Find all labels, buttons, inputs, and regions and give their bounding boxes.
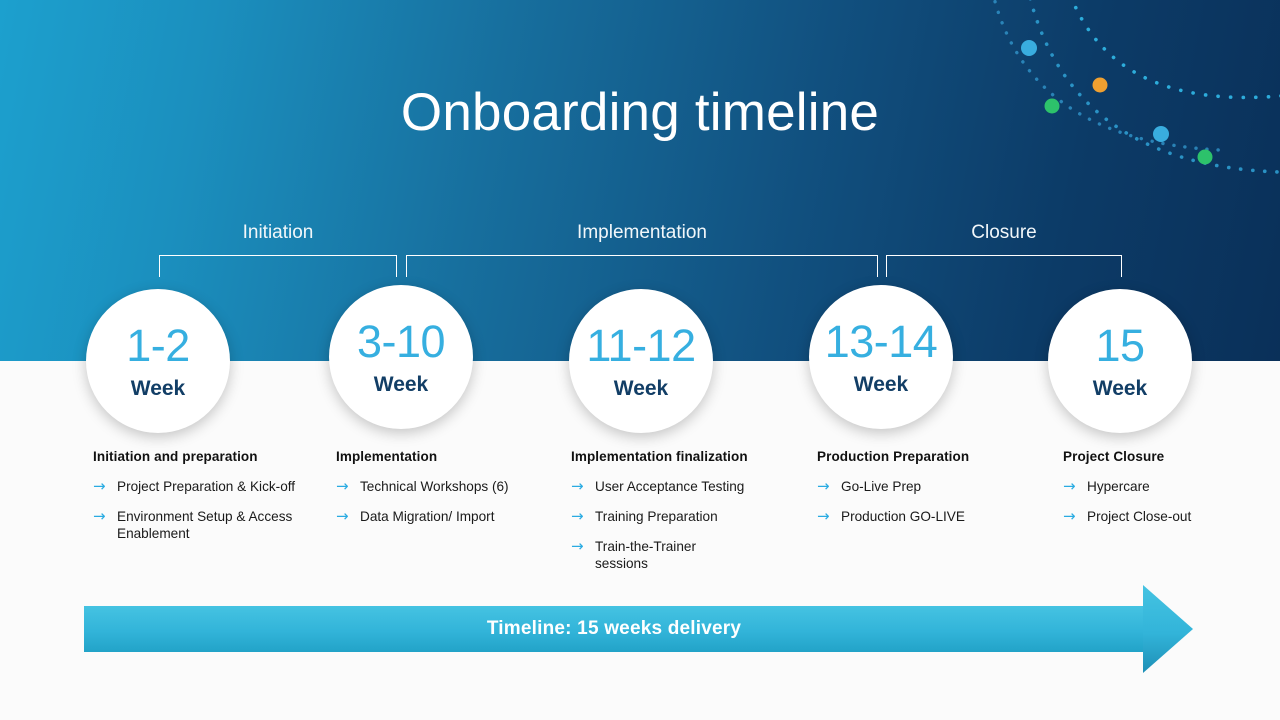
task-item[interactable]: → Data Migration/ Import — [336, 508, 561, 525]
milestone-number-4: 13-14 — [825, 319, 938, 364]
milestone-circle-5[interactable]: 15 Week — [1048, 289, 1192, 433]
milestone-circle-1[interactable]: 1-2 Week — [86, 289, 230, 433]
task-text: Train-the-Trainer sessions — [595, 538, 705, 572]
task-text: User Acceptance Testing — [595, 478, 744, 495]
task-item[interactable]: → User Acceptance Testing — [571, 478, 799, 495]
task-item[interactable]: → Go-Live Prep — [817, 478, 1045, 495]
task-item[interactable]: → Project Preparation & Kick-off — [93, 478, 315, 495]
task-column-heading-2: Implementation — [336, 449, 561, 464]
arrow-bullet-icon: → — [817, 508, 841, 525]
arrow-bullet-icon: → — [336, 478, 360, 495]
task-text: Data Migration/ Import — [360, 508, 494, 525]
task-column-heading-1: Initiation and preparation — [93, 449, 315, 464]
task-item[interactable]: → Hypercare — [1063, 478, 1273, 495]
milestone-unit-2: Week — [374, 374, 428, 395]
phase-bracket-implementation — [406, 255, 878, 277]
milestone-circle-2[interactable]: 3-10 Week — [329, 285, 473, 429]
task-text: Training Preparation — [595, 508, 718, 525]
task-column-3: Implementation finalization → User Accep… — [571, 449, 799, 585]
task-column-heading-4: Production Preparation — [817, 449, 1045, 464]
timeline-banner-label: Timeline: 15 weeks delivery — [84, 606, 1144, 652]
arrow-bullet-icon: → — [571, 538, 595, 555]
timeline-arrow-head-icon — [1143, 585, 1193, 673]
arrow-bullet-icon: → — [1063, 478, 1087, 495]
slide-canvas: Onboarding timeline Initiation Implement… — [0, 0, 1280, 720]
arrow-bullet-icon: → — [817, 478, 841, 495]
page-title: Onboarding timeline — [0, 82, 1280, 143]
task-item[interactable]: → Train-the-Trainer sessions — [571, 538, 799, 572]
milestone-number-5: 15 — [1095, 323, 1144, 368]
milestone-unit-4: Week — [854, 374, 908, 395]
task-column-5: Project Closure → Hypercare → Project Cl… — [1063, 449, 1273, 538]
milestone-circle-4[interactable]: 13-14 Week — [809, 285, 953, 429]
milestone-number-1: 1-2 — [126, 323, 190, 368]
phase-bracket-closure — [886, 255, 1122, 277]
milestone-unit-1: Week — [131, 378, 185, 399]
task-column-2: Implementation → Technical Workshops (6)… — [336, 449, 561, 538]
milestone-circle-3[interactable]: 11-12 Week — [569, 289, 713, 433]
task-column-4: Production Preparation → Go-Live Prep → … — [817, 449, 1045, 538]
arrow-bullet-icon: → — [1063, 508, 1087, 525]
task-text: Project Preparation & Kick-off — [117, 478, 295, 495]
task-text: Hypercare — [1087, 478, 1150, 495]
milestone-number-3: 11-12 — [586, 323, 695, 368]
task-column-heading-5: Project Closure — [1063, 449, 1273, 464]
arrow-bullet-icon: → — [571, 508, 595, 525]
task-text: Technical Workshops (6) — [360, 478, 509, 495]
task-column-1: Initiation and preparation → Project Pre… — [93, 449, 315, 555]
task-item[interactable]: → Technical Workshops (6) — [336, 478, 561, 495]
task-text: Environment Setup & Access Enablement — [117, 508, 315, 542]
arrow-bullet-icon: → — [93, 478, 117, 495]
task-item[interactable]: → Production GO-LIVE — [817, 508, 1045, 525]
task-text: Project Close-out — [1087, 508, 1191, 525]
phase-label-closure: Closure — [886, 222, 1122, 244]
task-item[interactable]: → Project Close-out — [1063, 508, 1273, 525]
arrow-bullet-icon: → — [336, 508, 360, 525]
task-text: Production GO-LIVE — [841, 508, 965, 525]
milestone-unit-5: Week — [1093, 378, 1147, 399]
phase-label-initiation: Initiation — [159, 222, 397, 244]
task-column-heading-3: Implementation finalization — [571, 449, 799, 464]
arrow-bullet-icon: → — [93, 508, 117, 525]
phase-label-implementation: Implementation — [406, 222, 878, 244]
task-item[interactable]: → Environment Setup & Access Enablement — [93, 508, 315, 542]
task-item[interactable]: → Training Preparation — [571, 508, 799, 525]
arrow-bullet-icon: → — [571, 478, 595, 495]
phase-bracket-initiation — [159, 255, 397, 277]
task-text: Go-Live Prep — [841, 478, 921, 495]
milestone-number-2: 3-10 — [357, 319, 445, 364]
milestone-unit-3: Week — [614, 378, 668, 399]
